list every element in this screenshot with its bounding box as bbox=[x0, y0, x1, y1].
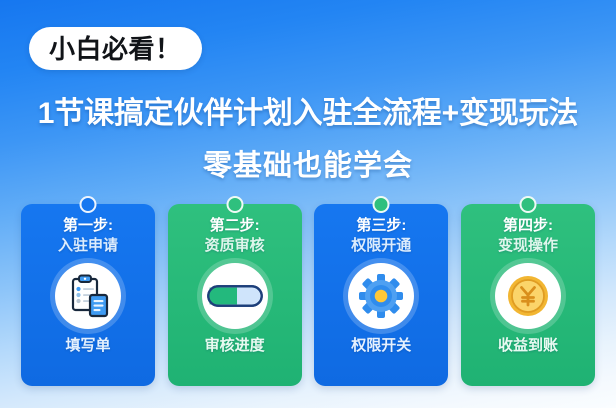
steps-row: 第一步: 入驻申请 填写单 bbox=[21, 204, 595, 386]
step-caption-2: 审核进度 bbox=[205, 338, 265, 353]
gear-icon bbox=[348, 263, 414, 329]
promo-poster: 小白必看！ 1节课搞定伙伴计划入驻全流程+变现玩法 零基础也能学会 第一步: 入… bbox=[0, 0, 616, 408]
step-node-icon-4 bbox=[519, 196, 536, 213]
highlight-badge-text: 小白必看！ bbox=[49, 36, 182, 62]
step-node-icon-1 bbox=[80, 196, 97, 213]
yen-coin-icon bbox=[495, 263, 561, 329]
highlight-badge: 小白必看！ bbox=[29, 27, 202, 70]
step-label-1: 第一步: bbox=[63, 217, 113, 236]
step-node-icon-2 bbox=[226, 196, 243, 213]
step-name-3: 权限开通 bbox=[351, 237, 411, 256]
page-subtitle: 零基础也能学会 bbox=[0, 142, 616, 184]
step-caption-3: 权限开关 bbox=[351, 338, 411, 353]
step-caption-1: 填写单 bbox=[65, 338, 110, 353]
step-node-icon-3 bbox=[373, 196, 390, 213]
progress-bar-icon bbox=[202, 263, 268, 329]
clipboard-form-icon bbox=[55, 263, 121, 329]
page-title: 1节课搞定伙伴计划入驻全流程+变现玩法 bbox=[0, 88, 616, 132]
step-name-1: 入驻申请 bbox=[58, 237, 118, 256]
step-label-3: 第三步: bbox=[356, 217, 406, 236]
step-label-2: 第二步: bbox=[210, 217, 260, 236]
step-name-4: 变现操作 bbox=[498, 237, 558, 256]
step-card-4[interactable]: 第四步: 变现操作 收益到账 bbox=[461, 204, 595, 386]
step-label-4: 第四步: bbox=[503, 217, 553, 236]
step-caption-4: 收益到账 bbox=[498, 338, 558, 353]
step-card-1[interactable]: 第一步: 入驻申请 填写单 bbox=[21, 204, 155, 386]
step-name-2: 资质审核 bbox=[205, 237, 265, 256]
step-card-3[interactable]: 第三步: 权限开通 bbox=[314, 204, 448, 386]
step-card-2[interactable]: 第二步: 资质审核 审核进度 bbox=[168, 204, 302, 386]
